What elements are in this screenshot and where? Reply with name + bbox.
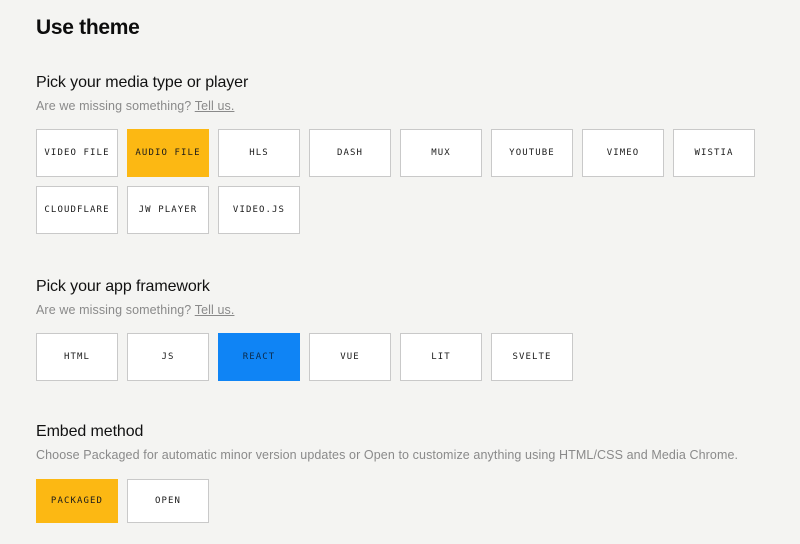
- media-type-tell-us-link[interactable]: Tell us.: [195, 99, 235, 113]
- embed-desc-bold-packaged: Packaged: [83, 448, 139, 462]
- media-option-youtube[interactable]: YOUTUBE: [491, 129, 573, 177]
- framework-option-html[interactable]: HTML: [36, 333, 118, 381]
- media-option-wistia[interactable]: WISTIA: [673, 129, 755, 177]
- media-option-hls[interactable]: HLS: [218, 129, 300, 177]
- embed-desc-bold-open: Open: [364, 448, 395, 462]
- media-option-cloudflare[interactable]: CLOUDFLARE: [36, 186, 118, 234]
- embed-desc-part-5: .: [735, 448, 739, 462]
- media-type-options: VIDEO FILE AUDIO FILE HLS DASH MUX YOUTU…: [36, 129, 764, 234]
- framework-option-lit[interactable]: LIT: [400, 333, 482, 381]
- framework-option-vue[interactable]: VUE: [309, 333, 391, 381]
- media-option-video-js[interactable]: VIDEO.JS: [218, 186, 300, 234]
- media-option-video-file[interactable]: VIDEO FILE: [36, 129, 118, 177]
- media-option-vimeo[interactable]: VIMEO: [582, 129, 664, 177]
- embed-option-open[interactable]: OPEN: [127, 479, 209, 523]
- media-option-jw-player[interactable]: JW PLAYER: [127, 186, 209, 234]
- embed-method-section: Embed method Choose Packaged for automat…: [36, 423, 764, 523]
- embed-desc-part-4: using HTML/CSS and: [521, 448, 651, 462]
- media-type-heading: Pick your media type or player: [36, 74, 764, 92]
- media-option-audio-file[interactable]: AUDIO FILE: [127, 129, 209, 177]
- page-title: Use theme: [36, 16, 764, 40]
- app-framework-section: Pick your app framework Are we missing s…: [36, 278, 764, 381]
- media-type-section: Pick your media type or player Are we mi…: [36, 74, 764, 234]
- media-option-mux[interactable]: MUX: [400, 129, 482, 177]
- embed-desc-part-1: Choose: [36, 448, 83, 462]
- app-framework-subtext-prefix: Are we missing something?: [36, 303, 191, 317]
- media-option-dash[interactable]: DASH: [309, 129, 391, 177]
- app-framework-options: HTML JS REACT VUE LIT SVELTE: [36, 333, 764, 381]
- embed-method-heading: Embed method: [36, 423, 764, 441]
- framework-option-js[interactable]: JS: [127, 333, 209, 381]
- embed-desc-part-2: for automatic minor version updates or: [140, 448, 364, 462]
- media-chrome-link[interactable]: Media Chrome: [651, 448, 734, 462]
- embed-method-description: Choose Packaged for automatic minor vers…: [36, 448, 764, 462]
- embed-method-options: PACKAGED OPEN: [36, 479, 764, 523]
- embed-desc-italic-anything: anything: [473, 448, 521, 462]
- framework-option-svelte[interactable]: SVELTE: [491, 333, 573, 381]
- embed-option-packaged[interactable]: PACKAGED: [36, 479, 118, 523]
- app-framework-heading: Pick your app framework: [36, 278, 764, 296]
- theme-settings-page: Use theme Pick your media type or player…: [0, 0, 800, 523]
- app-framework-subtext: Are we missing something? Tell us.: [36, 303, 764, 317]
- media-type-subtext-prefix: Are we missing something?: [36, 99, 191, 113]
- media-type-subtext: Are we missing something? Tell us.: [36, 99, 764, 113]
- app-framework-tell-us-link[interactable]: Tell us.: [195, 303, 235, 317]
- embed-desc-part-3: to customize: [395, 448, 474, 462]
- framework-option-react[interactable]: REACT: [218, 333, 300, 381]
